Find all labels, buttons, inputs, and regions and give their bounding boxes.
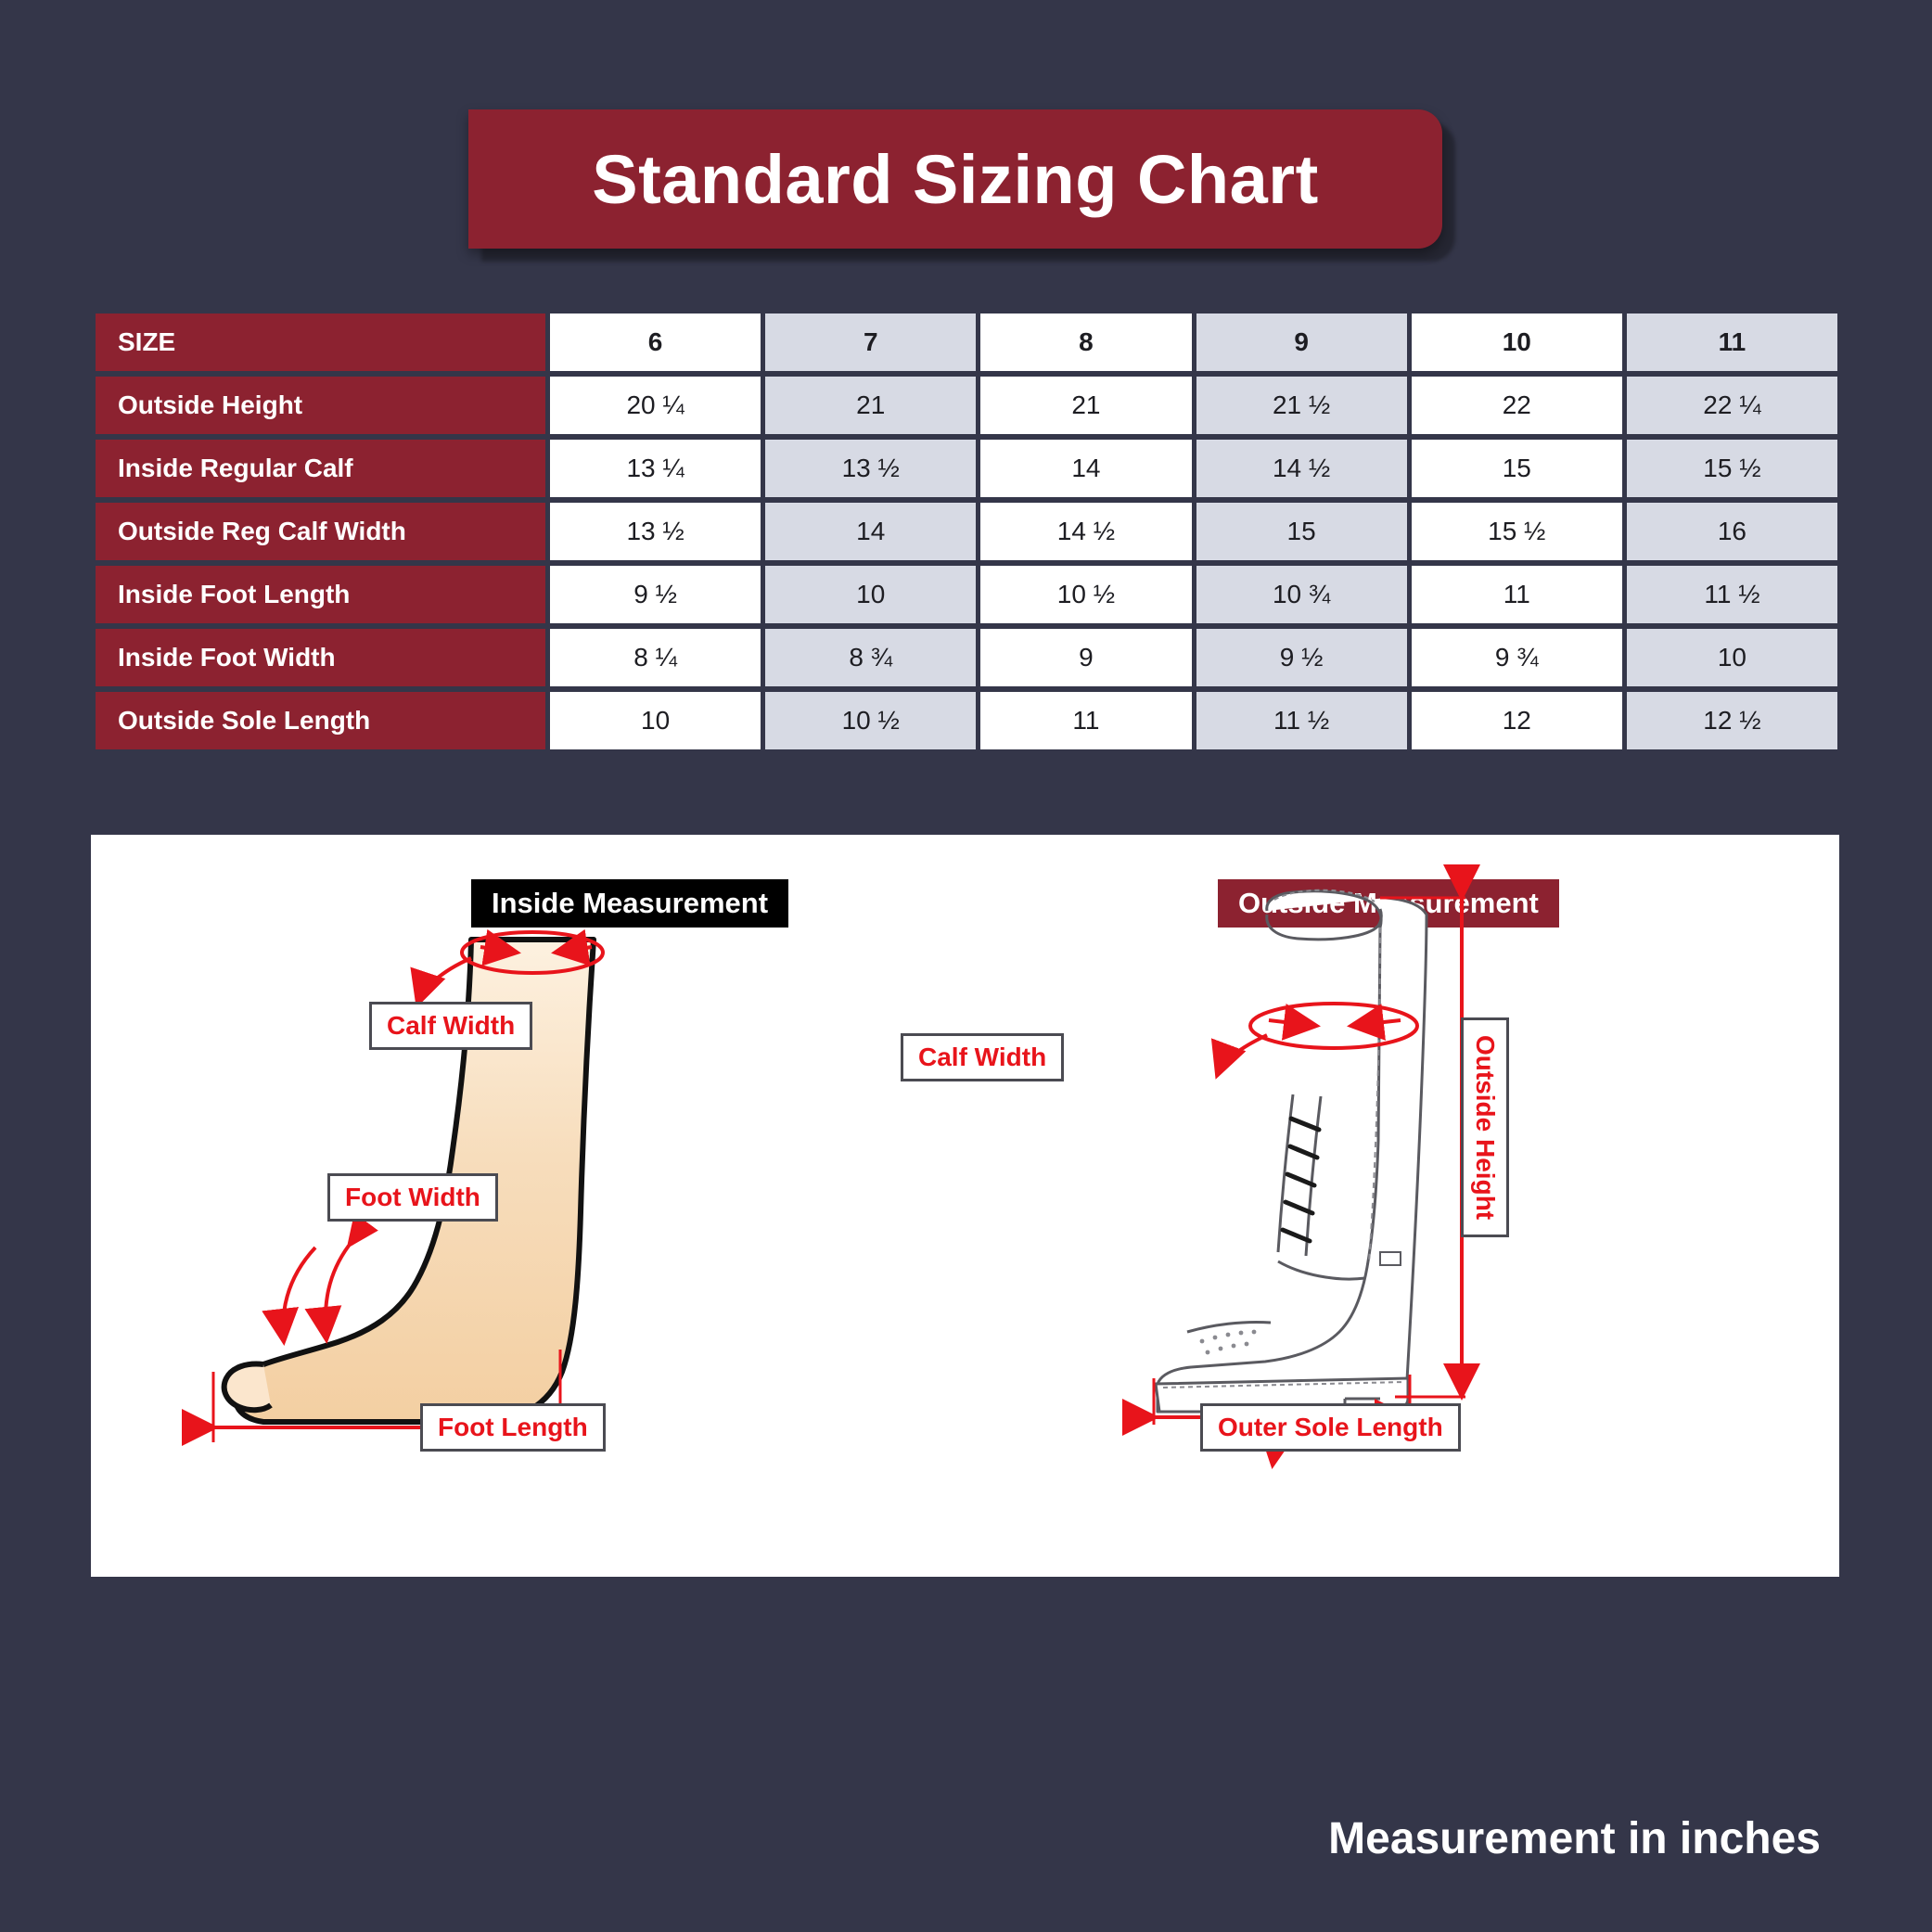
table-header-row: SIZE 6 7 8 9 10 11 [96,313,1837,371]
cell: 15 [1412,440,1622,497]
table-row: Inside Regular Calf 13 ¼ 13 ½ 14 14 ½ 15… [96,440,1837,497]
cell: 15 ½ [1412,503,1622,560]
cell: 11 ½ [1627,566,1837,623]
cell: 10 [550,692,761,749]
cell: 9 ½ [1196,629,1407,686]
cell: 20 ¼ [550,377,761,434]
cell: 8 ¼ [550,629,761,686]
row-label-outside-reg-calf-width: Outside Reg Calf Width [96,503,545,560]
cell: 11 ½ [1196,692,1407,749]
table-row: Inside Foot Length 9 ½ 10 10 ½ 10 ¾ 11 1… [96,566,1837,623]
cell: 9 ½ [550,566,761,623]
cell: 14 [980,440,1191,497]
callout-outer-sole-length: Outer Sole Length [1200,1403,1461,1452]
cell: 22 [1412,377,1622,434]
cell: 14 ½ [1196,440,1407,497]
cell: 14 ½ [980,503,1191,560]
cell: 13 ¼ [550,440,761,497]
callout-inside-calf-width: Calf Width [369,1002,532,1050]
row-label-inside-foot-length: Inside Foot Length [96,566,545,623]
sizing-table: SIZE 6 7 8 9 10 11 Outside Height 20 ¼ 2… [96,313,1837,749]
callout-inside-foot-length: Foot Length [420,1403,606,1452]
cell: 11 [1412,566,1622,623]
table-row: Outside Reg Calf Width 13 ½ 14 14 ½ 15 1… [96,503,1837,560]
title-banner: Standard Sizing Chart [468,109,1447,253]
cell: 22 ¼ [1627,377,1837,434]
row-label-outside-sole-length: Outside Sole Length [96,692,545,749]
table-row: Outside Sole Length 10 10 ½ 11 11 ½ 12 1… [96,692,1837,749]
cell: 12 [1412,692,1622,749]
cell: 8 ¾ [765,629,976,686]
column-header-size-9: 9 [1196,313,1407,371]
column-header-size-10: 10 [1412,313,1622,371]
table-row: Outside Height 20 ¼ 21 21 21 ½ 22 22 ¼ [96,377,1837,434]
cell: 15 [1196,503,1407,560]
row-label-outside-height: Outside Height [96,377,545,434]
row-label-inside-foot-width: Inside Foot Width [96,629,545,686]
cell: 9 ¾ [1412,629,1622,686]
callout-outside-calf-width: Calf Width [901,1033,1064,1081]
cell: 10 [1627,629,1837,686]
diagram-panel: Inside Measurement Outside Measurement [91,835,1839,1577]
cell: 21 [980,377,1191,434]
column-header-size-11: 11 [1627,313,1837,371]
table-row: Inside Foot Width 8 ¼ 8 ¾ 9 9 ½ 9 ¾ 10 [96,629,1837,686]
cell: 11 [980,692,1191,749]
callout-outside-height: Outside Height [1461,1017,1509,1237]
column-header-size-8: 8 [980,313,1191,371]
sizing-chart-page: Standard Sizing Chart SIZE 6 7 8 9 10 11… [0,0,1932,1932]
cell: 13 ½ [550,503,761,560]
cell: 9 [980,629,1191,686]
cell: 14 [765,503,976,560]
cell: 21 [765,377,976,434]
cell: 10 [765,566,976,623]
column-header-size-7: 7 [765,313,976,371]
cell: 10 ½ [980,566,1191,623]
row-label-inside-regular-calf: Inside Regular Calf [96,440,545,497]
cell: 13 ½ [765,440,976,497]
cell: 10 ¾ [1196,566,1407,623]
leg-foot-diagram [174,886,1009,1572]
cell: 16 [1627,503,1837,560]
table-row-header-label: SIZE [96,313,545,371]
page-title: Standard Sizing Chart [592,140,1318,219]
cell: 15 ½ [1627,440,1837,497]
cell: 12 ½ [1627,692,1837,749]
callout-inside-foot-width: Foot Width [327,1173,498,1222]
footer-note: Measurement in inches [1328,1813,1821,1864]
title-banner-plate: Standard Sizing Chart [468,109,1442,249]
cell: 21 ½ [1196,377,1407,434]
column-header-size-6: 6 [550,313,761,371]
cell: 10 ½ [765,692,976,749]
